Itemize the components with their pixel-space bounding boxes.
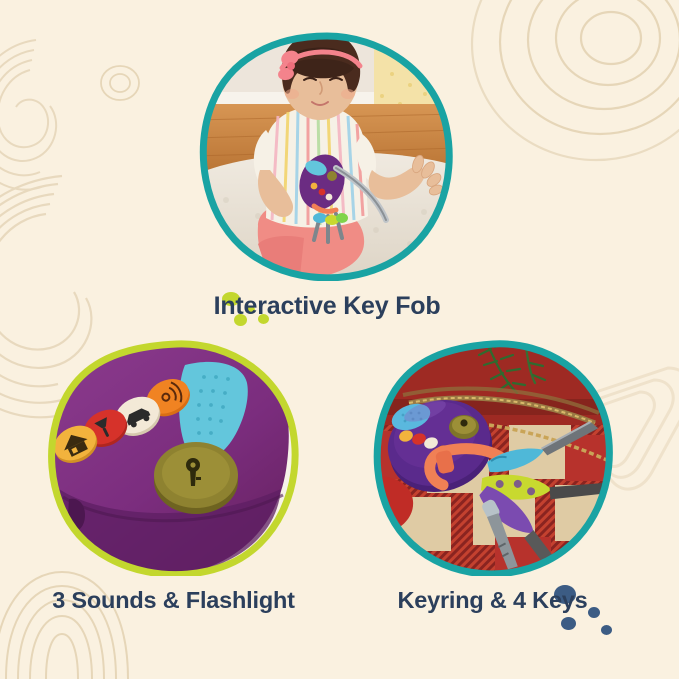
small-ring-cluster xyxy=(101,66,139,100)
concentric-rings xyxy=(472,0,679,160)
accent-dot xyxy=(561,617,576,630)
panel-sounds-media xyxy=(41,339,306,576)
accent-dot xyxy=(588,607,600,618)
panel-keyring-caption: Keyring & 4 Keys xyxy=(397,587,587,614)
panel-keyring-keys[interactable]: Keyring & 4 Keys xyxy=(369,339,616,576)
organic-swirl-rings xyxy=(0,40,56,190)
panel-key-fob-caption: Interactive Key Fob xyxy=(214,292,441,321)
accent-dot xyxy=(601,625,612,635)
panel-sounds-flashlight[interactable]: 3 Sounds & Flashlight xyxy=(41,339,306,576)
panel-key-fob[interactable]: Interactive Key Fob xyxy=(196,30,458,281)
panel-keyring-media xyxy=(369,339,616,576)
feature-panel-collage: Interactive Key Fob xyxy=(0,0,679,679)
panel-key-fob-media xyxy=(196,30,458,281)
panel-sounds-caption: 3 Sounds & Flashlight xyxy=(52,587,295,614)
key-button xyxy=(154,442,238,514)
